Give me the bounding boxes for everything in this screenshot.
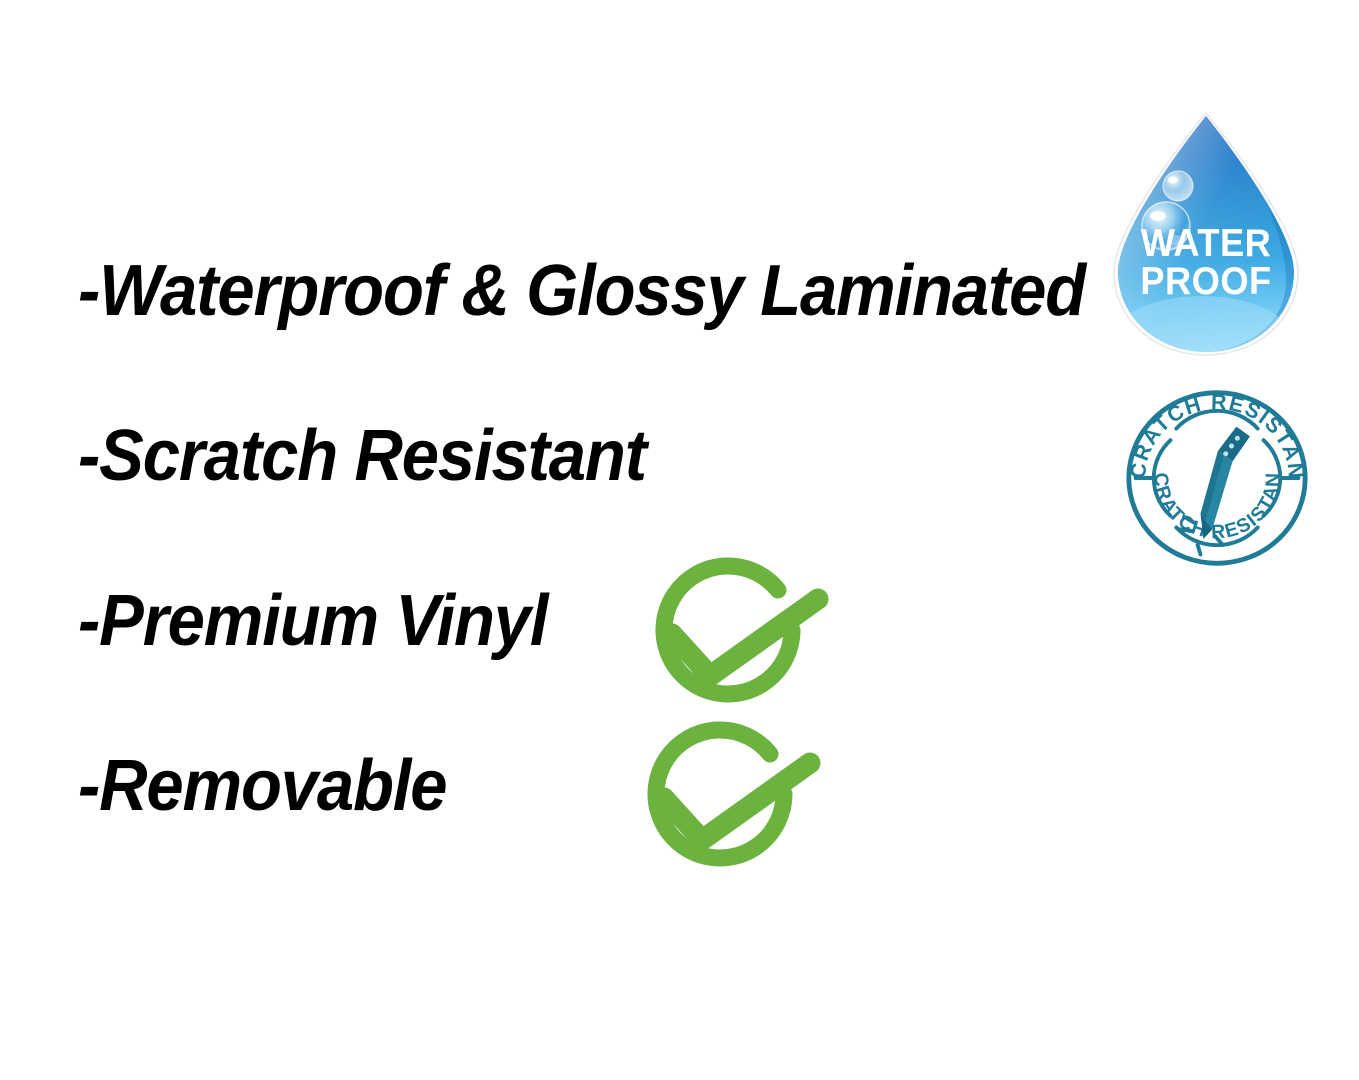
check-circle-icon xyxy=(640,552,840,712)
water-drop-icon xyxy=(1098,104,1314,360)
feature-row: -Waterproof & Glossy Laminated xyxy=(78,252,1098,417)
check-circle-icon xyxy=(632,716,832,876)
feature-label-scratch-resistant: -Scratch Resistant xyxy=(78,417,646,495)
feature-row: -Removable xyxy=(78,747,1098,912)
checkmark-premium-vinyl xyxy=(640,552,840,712)
feature-row: -Premium Vinyl xyxy=(78,582,1098,747)
feature-list: -Waterproof & Glossy Laminated -Scratch … xyxy=(78,252,1098,912)
waterproof-badge: WATER PROOF xyxy=(1098,104,1314,360)
feature-label-waterproof: -Waterproof & Glossy Laminated xyxy=(78,252,1085,330)
feature-label-premium-vinyl: -Premium Vinyl xyxy=(78,582,547,660)
checkmark-removable xyxy=(632,716,832,876)
feature-label-removable: -Removable xyxy=(78,747,446,825)
product-feature-graphic: -Waterproof & Glossy Laminated -Scratch … xyxy=(0,0,1359,1080)
feature-row: -Scratch Resistant xyxy=(78,417,1098,582)
scratch-resistant-badge: SCRATCH RESISTANT SCRATCH RESISTANT xyxy=(1120,384,1314,572)
bubble-large xyxy=(1142,202,1190,250)
knife-stamp-icon: SCRATCH RESISTANT SCRATCH RESISTANT xyxy=(1120,384,1314,572)
bubble-small xyxy=(1163,171,1193,201)
